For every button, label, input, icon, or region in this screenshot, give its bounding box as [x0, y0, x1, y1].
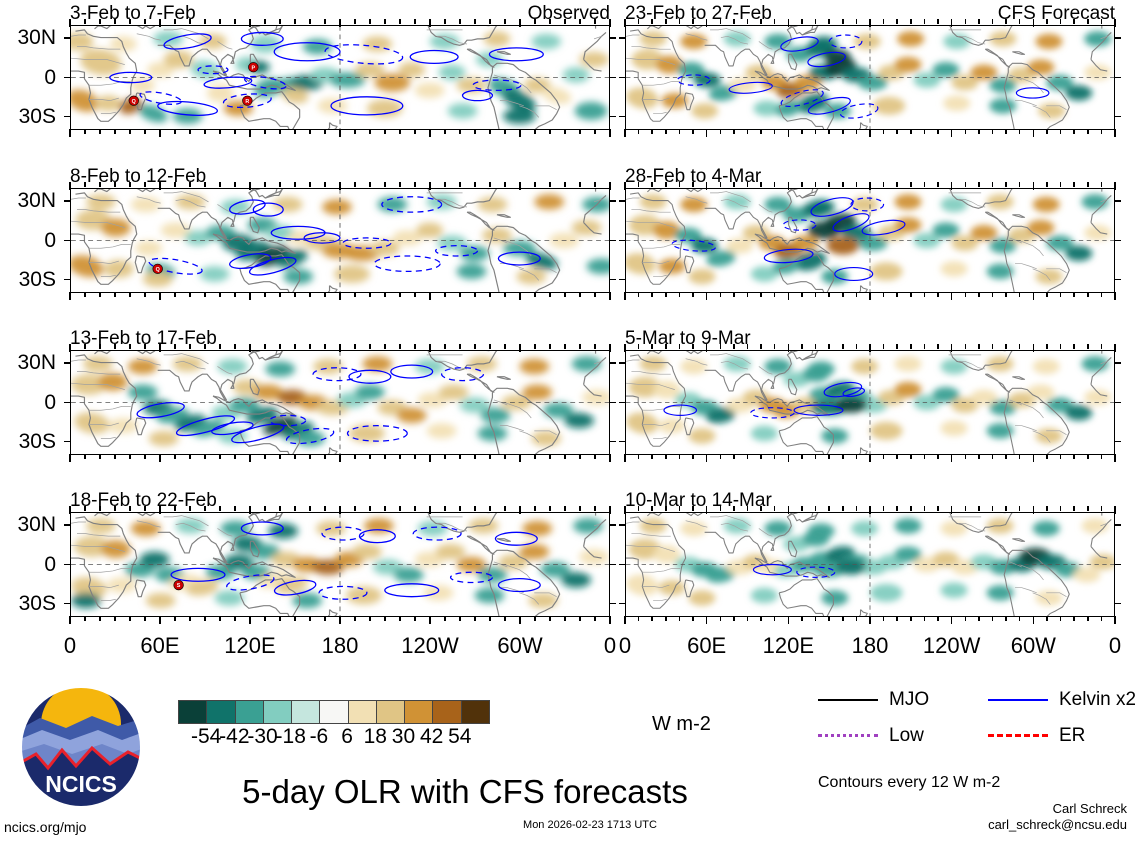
x-axis-tick [309, 129, 311, 134]
x-axis-tick [1005, 344, 1007, 349]
x-axis-tick [978, 292, 980, 297]
x-axis-tick [234, 506, 236, 511]
x-axis-tick [369, 454, 371, 459]
x-axis-tick [1087, 19, 1089, 24]
x-axis-tick [720, 344, 722, 349]
x-axis-tick [1073, 182, 1075, 187]
x-axis-tick [234, 129, 236, 134]
x-axis-tick [534, 292, 536, 297]
x-axis-tick [189, 344, 191, 349]
x-axis-tick [174, 344, 176, 349]
x-axis-tick [1087, 506, 1089, 511]
x-axis-tick [114, 182, 116, 187]
x-axis-tick [294, 616, 296, 621]
y-axis-tick [1114, 240, 1121, 242]
x-axis-tick [624, 292, 626, 300]
x-axis-tick [144, 454, 146, 459]
x-axis-tick [549, 19, 551, 24]
x-axis-tick [489, 292, 491, 297]
x-axis-tick [189, 454, 191, 459]
x-axis-tick [869, 506, 871, 514]
x-axis-tick [951, 292, 953, 300]
x-axis-tick [279, 292, 281, 297]
x-axis-tick [444, 292, 446, 297]
x-axis-tick [638, 454, 640, 459]
x-axis-tick [474, 129, 476, 134]
x-axis-tick [399, 454, 401, 459]
x-axis-tick [324, 292, 326, 297]
panel-title: 5-Mar to 9-Mar [625, 329, 751, 348]
site-url: ncics.org/mjo [4, 820, 86, 834]
x-axis-tick [1005, 292, 1007, 297]
er-line-swatch [988, 734, 1048, 737]
ncics-logo-text: NCICS [45, 771, 117, 797]
x-axis-tick [965, 454, 967, 459]
legend-entry-low: Low [818, 726, 924, 745]
panel-title: 3-Feb to 7-Feb [70, 4, 196, 23]
x-axis-tick [1046, 454, 1048, 459]
x-axis-tick [856, 506, 858, 511]
x-axis-tick [692, 454, 694, 459]
x-axis-tick [144, 182, 146, 187]
x-axis-tick [384, 19, 386, 24]
x-axis-tick [1101, 454, 1103, 459]
x-axis-tick [204, 292, 206, 297]
x-axis-tick [624, 19, 626, 27]
y-axis-tick [619, 564, 626, 566]
x-axis-tick [69, 19, 71, 27]
x-axis-tick [692, 19, 694, 24]
x-axis-tick [747, 129, 749, 134]
x-axis-tick [474, 506, 476, 511]
x-axis-tick [706, 344, 708, 352]
x-axis-tick [459, 506, 461, 511]
x-axis-tick [204, 129, 206, 134]
y-axis-tick [64, 37, 71, 39]
x-axis-tick [219, 344, 221, 349]
x-axis-tick [951, 616, 953, 624]
y-axis-tick [64, 441, 71, 443]
x-axis-tick [189, 19, 191, 24]
x-axis-tick [459, 182, 461, 187]
x-axis-tick [665, 19, 667, 24]
y-axis-tick [64, 524, 71, 526]
y-axis-tick [1114, 402, 1121, 404]
x-axis-tick [856, 19, 858, 24]
x-axis-tick [828, 182, 830, 187]
x-axis-tick [774, 182, 776, 187]
x-axis-tick [651, 292, 653, 297]
x-axis-tick [651, 182, 653, 187]
x-axis-tick [747, 344, 749, 349]
colorbar-segment [292, 701, 320, 723]
x-axis-tick [339, 292, 341, 300]
x-axis-tick [992, 616, 994, 621]
map-panel [625, 188, 1115, 293]
x-axis-tick [519, 19, 521, 27]
x-axis-tick [249, 454, 251, 462]
x-axis-tick [1033, 454, 1035, 462]
x-axis-tick [1073, 454, 1075, 459]
x-axis-tick [733, 19, 735, 24]
x-axis-tick [534, 506, 536, 511]
x-axis-tick [189, 506, 191, 511]
y-axis-tick [619, 402, 626, 404]
x-axis-tick [129, 344, 131, 349]
x-axis-tick [519, 616, 521, 624]
x-axis-tick [594, 129, 596, 134]
x-axis-tick [519, 129, 521, 137]
x-axis-tick [747, 19, 749, 24]
x-axis-tick [869, 19, 871, 27]
x-axis-tick [99, 292, 101, 297]
x-axis-tick [324, 616, 326, 621]
y-axis-tick [64, 116, 71, 118]
x-axis-tick [1046, 616, 1048, 621]
x-axis-label: 60W [988, 635, 1078, 657]
x-axis-tick [174, 506, 176, 511]
legend-entry-kelvin: Kelvin x2 [988, 690, 1135, 709]
x-axis-tick [937, 344, 939, 349]
x-axis-tick [429, 616, 431, 624]
x-axis-tick [624, 129, 626, 137]
x-axis-tick [1073, 19, 1075, 24]
x-axis-tick [924, 129, 926, 134]
x-axis-tick [99, 19, 101, 24]
x-axis-tick [1073, 616, 1075, 621]
x-axis-tick [99, 129, 101, 134]
x-axis-tick [519, 182, 521, 190]
x-axis-tick [1101, 19, 1103, 24]
x-axis-tick [444, 129, 446, 134]
x-axis-tick [384, 506, 386, 511]
x-axis-tick [354, 454, 356, 459]
x-axis-tick [1060, 292, 1062, 297]
x-axis-tick [84, 506, 86, 511]
low-line-swatch [818, 734, 878, 737]
y-axis-label: 30N [0, 352, 56, 373]
y-axis-label: 0 [0, 392, 56, 413]
x-axis-tick [594, 454, 596, 459]
x-axis-tick [692, 344, 694, 349]
x-axis-tick [1114, 616, 1116, 624]
x-axis-tick [1046, 182, 1048, 187]
y-axis-tick [619, 77, 626, 79]
x-axis-tick [159, 454, 161, 462]
x-axis-tick [856, 454, 858, 459]
y-axis-tick [619, 603, 626, 605]
x-axis-tick [720, 506, 722, 511]
x-axis-tick [324, 506, 326, 511]
x-axis-tick [720, 129, 722, 134]
x-axis-tick [504, 616, 506, 621]
x-axis-tick [1046, 506, 1048, 511]
x-axis-tick [159, 19, 161, 27]
colorbar-segment [405, 701, 433, 723]
x-axis-tick [279, 182, 281, 187]
x-axis-tick [801, 454, 803, 459]
x-axis-label: 180 [825, 635, 915, 657]
x-axis-tick [534, 19, 536, 24]
x-axis-tick [159, 292, 161, 300]
mjo-line-swatch [818, 699, 878, 701]
contour-interval-note: Contours every 12 W m-2 [818, 775, 1000, 791]
x-axis-tick [294, 506, 296, 511]
x-axis-tick [189, 616, 191, 621]
x-axis-tick [279, 616, 281, 621]
y-axis-label: 0 [0, 230, 56, 251]
x-axis-tick [84, 616, 86, 621]
storm-markers: Q [153, 264, 163, 274]
x-axis-tick [369, 344, 371, 349]
x-axis-tick [384, 182, 386, 187]
x-axis-tick [1101, 292, 1103, 297]
x-axis-tick [414, 454, 416, 459]
x-axis-tick [1101, 182, 1103, 187]
x-axis-tick [856, 344, 858, 349]
legend-label-mjo: MJO [889, 690, 929, 709]
x-axis-tick [883, 129, 885, 134]
x-axis-tick [733, 344, 735, 349]
x-axis-tick [638, 19, 640, 24]
x-axis-tick [1114, 19, 1116, 27]
x-axis-tick [856, 129, 858, 134]
x-axis-tick [369, 129, 371, 134]
x-axis-tick [504, 454, 506, 459]
x-axis-tick [144, 129, 146, 134]
x-axis-tick [129, 506, 131, 511]
y-axis-tick [1114, 603, 1121, 605]
x-axis-tick [174, 292, 176, 297]
x-axis-tick [788, 506, 790, 514]
x-axis-tick [1087, 129, 1089, 134]
x-axis-tick [534, 344, 536, 349]
x-axis-tick [144, 292, 146, 297]
x-axis-tick [774, 506, 776, 511]
x-axis-tick [159, 129, 161, 137]
x-axis-tick [720, 616, 722, 621]
x-axis-tick [1019, 292, 1021, 297]
x-axis-tick [1087, 616, 1089, 621]
x-axis-tick [965, 616, 967, 621]
x-axis-tick [1005, 616, 1007, 621]
x-axis-tick [489, 506, 491, 511]
x-axis-tick [249, 506, 251, 514]
colorbar-segment [349, 701, 377, 723]
x-axis-tick [1073, 292, 1075, 297]
y-axis-tick [64, 362, 71, 364]
x-axis-tick [869, 344, 871, 352]
x-axis-tick [249, 292, 251, 300]
kelvin-line-swatch [988, 699, 1048, 701]
x-axis-tick [159, 506, 161, 514]
x-axis-tick [788, 344, 790, 352]
x-axis-tick [474, 344, 476, 349]
x-axis-tick [459, 454, 461, 459]
y-axis-tick [609, 77, 616, 79]
y-axis-tick [619, 200, 626, 202]
x-axis-tick [519, 506, 521, 514]
x-axis-tick [828, 454, 830, 459]
y-axis-tick [1114, 37, 1121, 39]
colorbar-segment [320, 701, 348, 723]
x-axis-tick [279, 19, 281, 24]
x-axis-tick [249, 616, 251, 624]
x-axis-tick [549, 182, 551, 187]
x-axis-tick [384, 344, 386, 349]
x-axis-tick [1087, 454, 1089, 459]
legend-label-low: Low [889, 726, 924, 745]
x-axis-tick [489, 616, 491, 621]
x-axis-tick [249, 344, 251, 352]
panel-title: 23-Feb to 27-Feb [625, 4, 772, 23]
y-axis-tick [1114, 362, 1121, 364]
x-axis-tick [429, 182, 431, 190]
x-axis-tick [883, 182, 885, 187]
x-axis-tick [144, 506, 146, 511]
x-axis-tick [219, 129, 221, 134]
y-axis-tick [609, 279, 616, 281]
x-axis-tick [760, 506, 762, 511]
x-axis-tick [459, 344, 461, 349]
x-axis-tick [828, 292, 830, 297]
x-axis-tick [651, 616, 653, 621]
x-axis-tick [429, 506, 431, 514]
x-axis-tick [429, 454, 431, 462]
x-axis-tick [324, 454, 326, 459]
x-axis-tick [720, 19, 722, 24]
panel-column-header: CFS Forecast [885, 4, 1115, 23]
x-axis-tick [679, 344, 681, 349]
y-axis-tick [609, 564, 616, 566]
x-axis-tick [129, 129, 131, 134]
x-axis-tick [534, 129, 536, 134]
x-axis-tick [414, 292, 416, 297]
x-axis-tick [747, 616, 749, 621]
x-axis-tick [489, 454, 491, 459]
x-axis-tick [965, 506, 967, 511]
x-axis-tick [534, 182, 536, 187]
x-axis-tick [1101, 344, 1103, 349]
colorbar-segment [207, 701, 235, 723]
x-axis-tick [129, 616, 131, 621]
author-email: carl_schreck@ncsu.edu [988, 817, 1127, 833]
x-axis-tick [579, 182, 581, 187]
x-axis-tick [234, 19, 236, 24]
x-axis-tick [924, 182, 926, 187]
y-axis-tick [609, 362, 616, 364]
map-panel: S [70, 512, 610, 617]
x-axis-tick [733, 292, 735, 297]
map-panel: PQR [70, 25, 610, 130]
x-axis-tick [815, 19, 817, 24]
x-axis-tick [324, 129, 326, 134]
x-axis-tick [992, 454, 994, 459]
x-axis-tick [910, 19, 912, 24]
x-axis-tick [474, 182, 476, 187]
y-axis-tick [619, 362, 626, 364]
x-axis-tick [679, 19, 681, 24]
map-panel [70, 350, 610, 455]
x-axis-tick [579, 454, 581, 459]
x-axis-tick [429, 129, 431, 137]
x-axis-tick [801, 129, 803, 134]
x-axis-tick [279, 129, 281, 134]
x-axis-tick [951, 19, 953, 27]
x-axis-tick [414, 182, 416, 187]
x-axis-tick [489, 344, 491, 349]
x-axis-tick [129, 454, 131, 459]
x-axis-tick [815, 616, 817, 621]
x-axis-tick [856, 182, 858, 187]
x-axis-tick [279, 506, 281, 511]
x-axis-tick [978, 454, 980, 459]
colorbar-segment [462, 701, 489, 723]
y-axis-tick [619, 524, 626, 526]
x-axis-tick [1019, 454, 1021, 459]
x-axis-tick [828, 344, 830, 349]
x-axis-tick [234, 344, 236, 349]
x-axis-tick [504, 506, 506, 511]
x-axis-tick [504, 182, 506, 187]
x-axis-tick [324, 182, 326, 187]
x-axis-tick [828, 19, 830, 24]
x-axis-tick [174, 19, 176, 24]
x-axis-tick [937, 616, 939, 621]
x-axis-tick [294, 19, 296, 24]
x-axis-tick [69, 182, 71, 190]
x-axis-tick [534, 454, 536, 459]
x-axis-tick [114, 506, 116, 511]
x-axis-tick [564, 19, 566, 24]
svg-text:P: P [252, 65, 256, 71]
x-axis-tick [459, 19, 461, 24]
x-axis-tick [489, 182, 491, 187]
x-axis-tick [706, 129, 708, 137]
x-axis-tick [399, 506, 401, 511]
x-axis-tick [204, 454, 206, 459]
x-axis-tick [788, 292, 790, 300]
x-axis-tick [951, 129, 953, 137]
x-axis-tick [815, 292, 817, 297]
y-axis-label: 30S [0, 269, 56, 290]
x-axis-tick [609, 454, 611, 462]
x-axis-tick [594, 506, 596, 511]
x-axis-tick [114, 19, 116, 24]
x-axis-tick [1101, 616, 1103, 621]
colorbar-unit-label: W m-2 [652, 714, 711, 734]
x-axis-tick [1060, 616, 1062, 621]
svg-text:S: S [177, 583, 181, 589]
x-axis-tick [828, 616, 830, 621]
x-axis-tick [1019, 616, 1021, 621]
x-axis-label: 0 [1070, 635, 1135, 657]
x-axis-tick [399, 344, 401, 349]
x-axis-tick [733, 129, 735, 134]
x-axis-tick [896, 182, 898, 187]
x-axis-tick [1114, 454, 1116, 462]
x-axis-tick [706, 506, 708, 514]
x-axis-tick [883, 344, 885, 349]
x-axis-tick [937, 19, 939, 24]
x-axis-tick [651, 344, 653, 349]
x-axis-tick [594, 616, 596, 621]
x-axis-tick [339, 344, 341, 352]
x-axis-tick [774, 19, 776, 24]
x-axis-tick [692, 129, 694, 134]
x-axis-tick [354, 292, 356, 297]
x-axis-tick [324, 344, 326, 349]
